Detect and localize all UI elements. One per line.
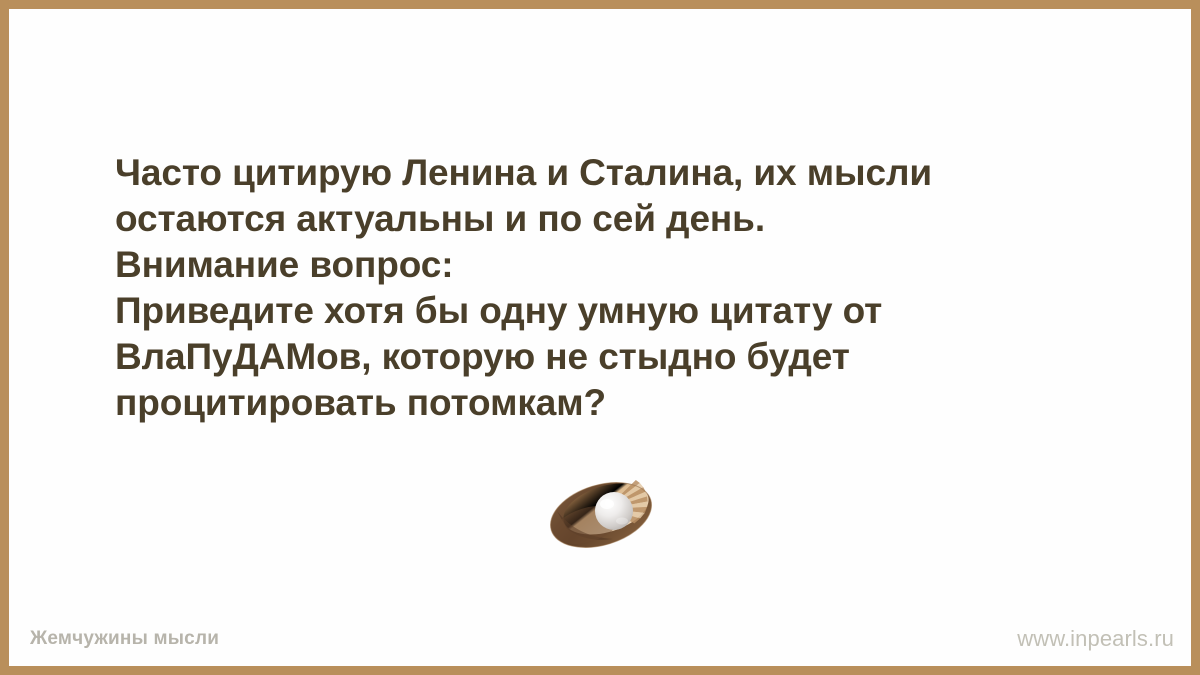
quote-line-4: Приведите хотя бы одну умную цитату от (115, 288, 1115, 334)
quote-line-2: остаются актуальны и по сей день. (115, 196, 1115, 242)
brand-label: Жемчужины мысли (30, 628, 219, 650)
quote-line-5: ВлаПуДАМов, которую не стыдно будет (115, 334, 1115, 380)
quote-text-block: Часто цитирую Ленина и Сталина, их мысли… (115, 150, 1115, 426)
quote-line-1: Часто цитирую Ленина и Сталина, их мысли (115, 150, 1115, 196)
site-url-label[interactable]: www.inpearls.ru (1017, 626, 1174, 652)
quote-card: Часто цитирую Ленина и Сталина, их мысли… (0, 0, 1200, 675)
quote-line-6: процитировать потомкам? (115, 380, 1115, 426)
quote-line-3: Внимание вопрос: (115, 242, 1115, 288)
oyster-shell-with-pearl-icon (543, 467, 667, 553)
